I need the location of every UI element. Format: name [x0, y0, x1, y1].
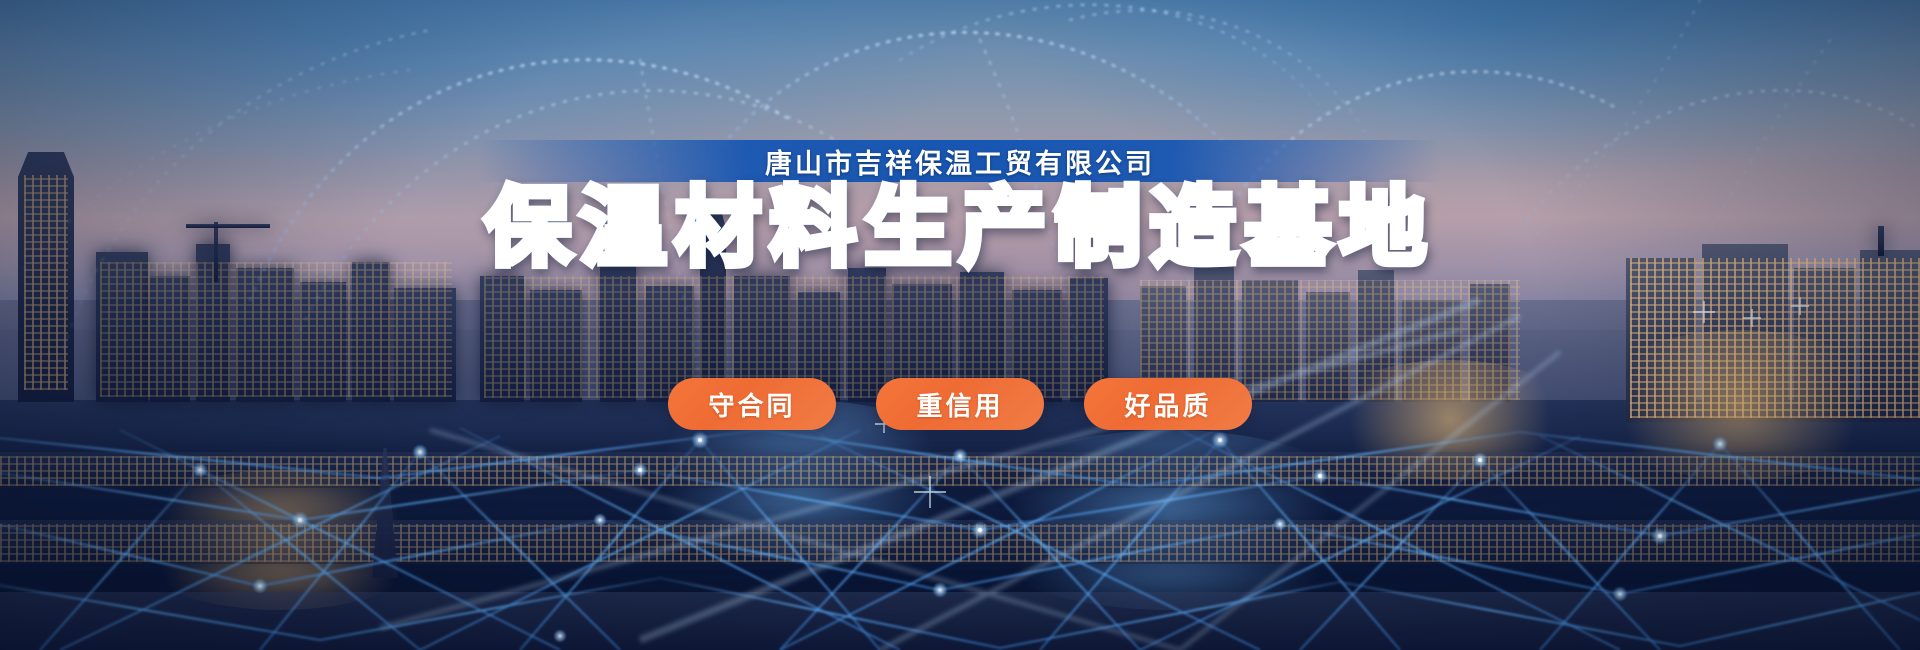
badge-contract[interactable]: 守合同 — [668, 378, 836, 430]
banner-content: 唐山市吉祥保温工贸有限公司 保温材料生产制造基地 守合同 重信用 好品质 — [0, 0, 1920, 650]
badge-credit[interactable]: 重信用 — [876, 378, 1044, 430]
headline-text: 保温材料生产制造基地 — [0, 182, 1920, 275]
company-name-bar: 唐山市吉祥保温工贸有限公司 — [480, 140, 1440, 182]
badge-quality[interactable]: 好品质 — [1084, 378, 1252, 430]
company-name-text: 唐山市吉祥保温工贸有限公司 — [765, 142, 1155, 181]
headline-container: 保温材料生产制造基地 — [0, 0, 1920, 120]
badge-contract-label: 守合同 — [708, 386, 795, 423]
hero-banner: 唐山市吉祥保温工贸有限公司 保温材料生产制造基地 守合同 重信用 好品质 — [0, 0, 1920, 650]
badge-quality-label: 好品质 — [1124, 386, 1211, 423]
badge-row: 守合同 重信用 好品质 — [0, 378, 1920, 430]
badge-credit-label: 重信用 — [916, 386, 1003, 423]
